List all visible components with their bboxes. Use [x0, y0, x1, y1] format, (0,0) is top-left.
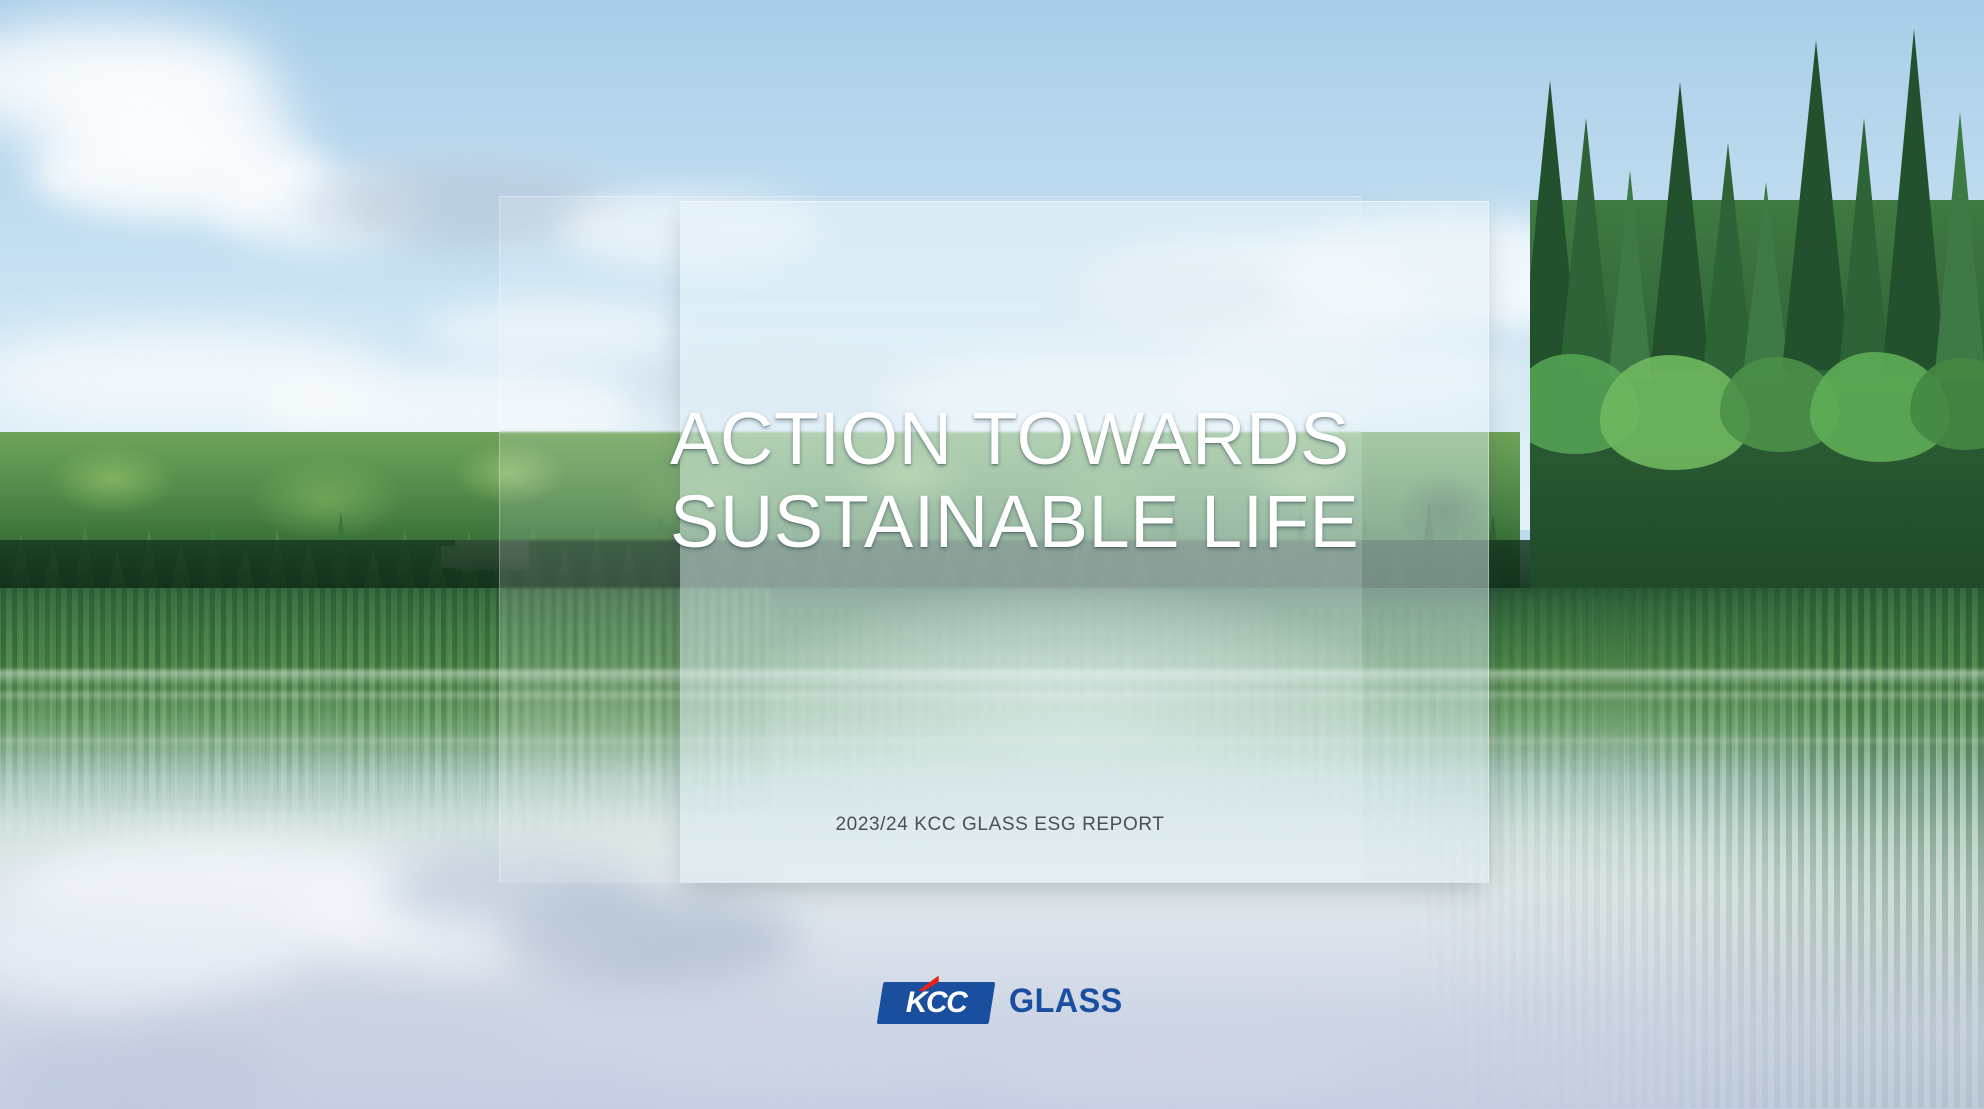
page-title: ACTION TOWARDS SUSTAINABLE LIFE: [670, 398, 1330, 564]
title-line-1: ACTION TOWARDS: [670, 398, 1330, 481]
report-subtitle: 2023/24 KCC GLASS ESG REPORT: [670, 814, 1330, 836]
kcc-glass-logo: KCC GLASS: [880, 975, 1129, 1027]
logo-kcc-text: KCC: [880, 982, 994, 1024]
kcc-logo-mark: KCC: [880, 978, 992, 1024]
report-cover-page: ACTION TOWARDS SUSTAINABLE LIFE 2023/24 …: [0, 0, 1984, 1109]
logo-glass-text: GLASS: [1009, 984, 1123, 1018]
right-spruce-forest: [1530, 0, 1984, 630]
title-line-2: SUSTAINABLE LIFE: [670, 481, 1330, 564]
